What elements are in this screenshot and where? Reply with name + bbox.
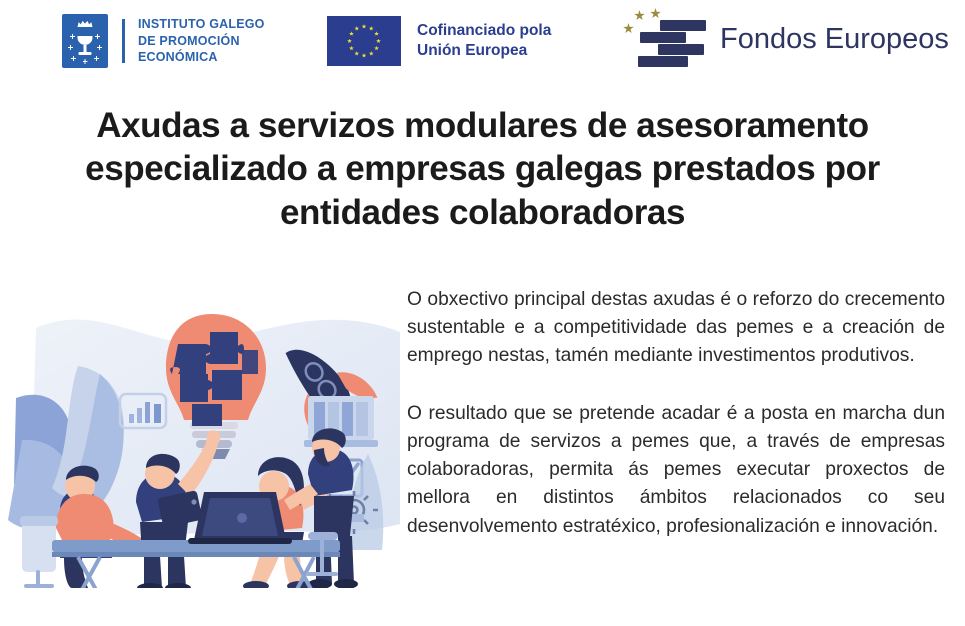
stepped-bar: [660, 20, 706, 31]
cross-icon: [71, 56, 76, 61]
body-text-column: O obxectivo principal destas axudas é o …: [407, 286, 945, 541]
star-icon: [376, 39, 381, 44]
chair: [20, 516, 58, 586]
star-icon: [369, 51, 374, 56]
laptop-icon: [188, 492, 292, 544]
star-icon: [369, 26, 374, 31]
chalice-foot-shape: [79, 52, 92, 55]
body-paragraph-2: O resultado que se pretende acadar é a p…: [407, 400, 945, 541]
stepped-bar: [658, 44, 704, 55]
galicia-coat-of-arms-icon: [62, 14, 108, 68]
cross-icon: [94, 56, 99, 61]
star-icon: [349, 46, 354, 51]
chart-bar: [137, 408, 142, 423]
logo-igape-line-3: ECONÓMICA: [138, 49, 265, 66]
cross-icon: [83, 59, 88, 64]
logo-fondos-europeos: Fondos Europeos: [620, 8, 949, 70]
star-icon: [354, 51, 359, 56]
star-icon: [362, 53, 367, 58]
chart-bar: [129, 414, 134, 423]
logo-igape-line-1: INSTITUTO GALEGO: [138, 16, 265, 33]
eu-flag-icon: [327, 16, 401, 66]
star-icon: [623, 23, 634, 34]
logo-igape-text: INSTITUTO GALEGO DE PROMOCIÓN ECONÓMICA: [138, 16, 265, 66]
logo-igape-line-2: DE PROMOCIÓN: [138, 33, 265, 50]
stepped-bars-icon: [620, 8, 706, 70]
page-title: Axudas a servizos modulares de asesorame…: [26, 104, 939, 234]
chalice-bowl-shape: [78, 36, 93, 45]
page-title-line-1: Axudas a servizos modulares de asesorame…: [96, 106, 869, 145]
header-logo-bar: INSTITUTO GALEGO DE PROMOCIÓN ECONÓMICA …: [0, 0, 965, 88]
star-icon: [354, 26, 359, 31]
teamwork-illustration: [8, 288, 400, 588]
star-icon: [347, 39, 352, 44]
page-title-line-2: especializado a empresas galegas prestad…: [85, 149, 880, 188]
chart-bar: [154, 404, 161, 423]
logo-european-union: Cofinanciado pola Unión Europea: [327, 16, 551, 66]
star-icon: [349, 31, 354, 36]
cross-icon: [70, 34, 75, 39]
star-icon: [374, 46, 379, 51]
stepped-bar: [638, 56, 688, 67]
star-icon: [634, 10, 645, 21]
cross-icon: [95, 34, 100, 39]
crown-shape: [78, 20, 93, 27]
cross-icon: [68, 45, 73, 50]
star-icon: [650, 8, 661, 19]
cross-icon: [97, 45, 102, 50]
chart-bar: [145, 402, 150, 423]
logo-eu-line-2: Unión Europea: [417, 41, 551, 61]
logo-divider: [122, 19, 125, 63]
logo-eu-text: Cofinanciado pola Unión Europea: [417, 21, 551, 61]
chalice-stem-shape: [84, 45, 87, 52]
body-paragraph-1: O obxectivo principal destas axudas é o …: [407, 286, 945, 371]
star-icon: [374, 31, 379, 36]
logo-igape: INSTITUTO GALEGO DE PROMOCIÓN ECONÓMICA: [62, 14, 265, 68]
page-title-line-3: entidades colaboradoras: [280, 193, 685, 232]
star-icon: [362, 24, 367, 29]
logo-fondos-label: Fondos Europeos: [720, 25, 949, 54]
logo-eu-line-1: Cofinanciado pola: [417, 21, 551, 41]
stepped-bar: [640, 32, 686, 43]
